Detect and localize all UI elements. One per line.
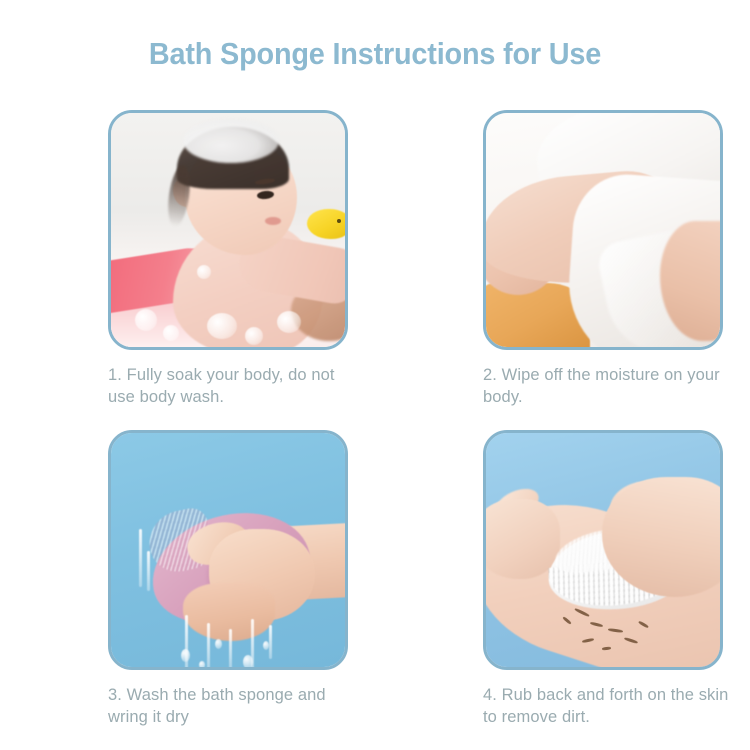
step-4-photo — [483, 430, 723, 670]
soap-bubble — [135, 309, 157, 331]
steps-grid: 1. Fully soak your body, do not use body… — [0, 110, 750, 750]
product-instruction-infographic: Bath Sponge Instructions for Use — [0, 0, 750, 750]
water-droplet — [215, 639, 222, 649]
water-stream — [207, 623, 210, 667]
step-2-photo — [483, 110, 723, 350]
water-stream — [269, 625, 272, 659]
rubber-duck-eye — [337, 219, 341, 223]
water-stream — [147, 551, 150, 591]
step-3-caption: 3. Wash the bath sponge and wring it dry — [108, 684, 358, 729]
step-4-illustration — [486, 433, 720, 667]
shampoo-foam — [183, 119, 279, 163]
step-3-illustration — [111, 433, 345, 667]
soap-bubble — [197, 265, 211, 279]
water-droplet — [243, 655, 253, 667]
soap-bubble — [163, 325, 179, 341]
step-1-photo — [108, 110, 348, 350]
step-item-3: 3. Wash the bath sponge and wring it dry — [0, 430, 375, 750]
step-item-2: 2. Wipe off the moisture on your body. — [375, 110, 750, 430]
left-hand — [486, 499, 560, 579]
water-stream — [229, 629, 232, 667]
water-stream — [139, 529, 142, 587]
water-droplet — [199, 661, 205, 667]
step-item-1: 1. Fully soak your body, do not use body… — [0, 110, 375, 430]
step-2-illustration — [486, 113, 720, 347]
water-droplet — [181, 649, 190, 662]
baby-mouth — [265, 217, 281, 225]
soap-bubble — [245, 327, 263, 345]
step-item-4: 4. Rub back and forth on the skin to rem… — [375, 430, 750, 750]
page-title: Bath Sponge Instructions for Use — [26, 36, 724, 72]
step-4-caption: 4. Rub back and forth on the skin to rem… — [483, 684, 733, 729]
step-3-photo — [108, 430, 348, 670]
water-droplet — [263, 641, 269, 650]
soap-bubble — [207, 313, 237, 339]
step-1-caption: 1. Fully soak your body, do not use body… — [108, 364, 358, 409]
soap-bubble — [277, 311, 301, 333]
step-2-caption: 2. Wipe off the moisture on your body. — [483, 364, 733, 409]
step-1-illustration — [111, 113, 345, 347]
